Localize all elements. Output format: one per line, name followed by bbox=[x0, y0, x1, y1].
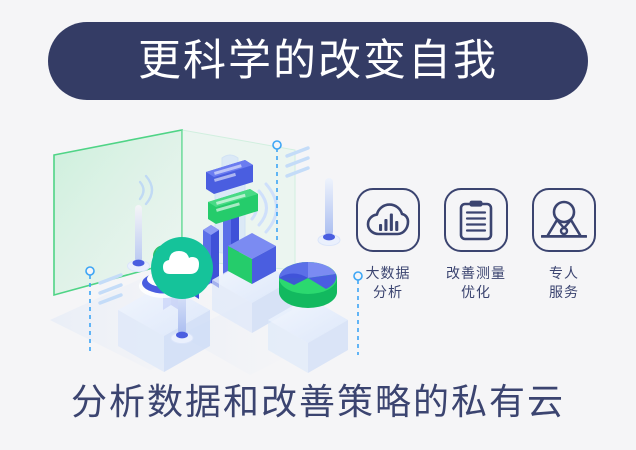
feature-item-service[interactable]: 专人 服务 bbox=[528, 188, 600, 328]
support-agent-icon bbox=[541, 199, 587, 241]
feature-item-measurement[interactable]: 改善测量 优化 bbox=[440, 188, 512, 328]
feature-label-line2: 分析 bbox=[366, 284, 411, 303]
feature-item-big-data[interactable]: 大数据 分析 bbox=[352, 188, 424, 328]
feature-label-line2: 优化 bbox=[446, 284, 506, 303]
feature-badge bbox=[356, 188, 420, 252]
hero-illustration bbox=[40, 120, 370, 375]
footer-tagline: 分析数据和改善策略的私有云 bbox=[0, 385, 636, 421]
feature-label-line2: 服务 bbox=[549, 284, 579, 303]
clipboard-icon bbox=[459, 199, 493, 241]
indicator-stem-right bbox=[318, 178, 340, 246]
feature-list: 大数据 分析 改善测量 优化 bbox=[352, 188, 600, 328]
feature-label-line1: 专人 bbox=[549, 266, 579, 282]
feature-badge bbox=[532, 188, 596, 252]
cloud-bar-chart-icon bbox=[366, 201, 410, 239]
feature-badge bbox=[444, 188, 508, 252]
feature-label: 大数据 分析 bbox=[366, 265, 411, 303]
feature-label: 专人 服务 bbox=[549, 265, 579, 303]
page-title: 更科学的改变自我 bbox=[138, 40, 498, 83]
feature-label: 改善测量 优化 bbox=[446, 265, 506, 303]
poster-canvas: 更科学的改变自我 bbox=[0, 0, 636, 450]
feature-label-line1: 大数据 bbox=[366, 266, 411, 282]
header-banner: 更科学的改变自我 bbox=[48, 22, 588, 100]
pie-chart-3d bbox=[279, 262, 337, 308]
feature-label-line1: 改善测量 bbox=[446, 266, 506, 282]
